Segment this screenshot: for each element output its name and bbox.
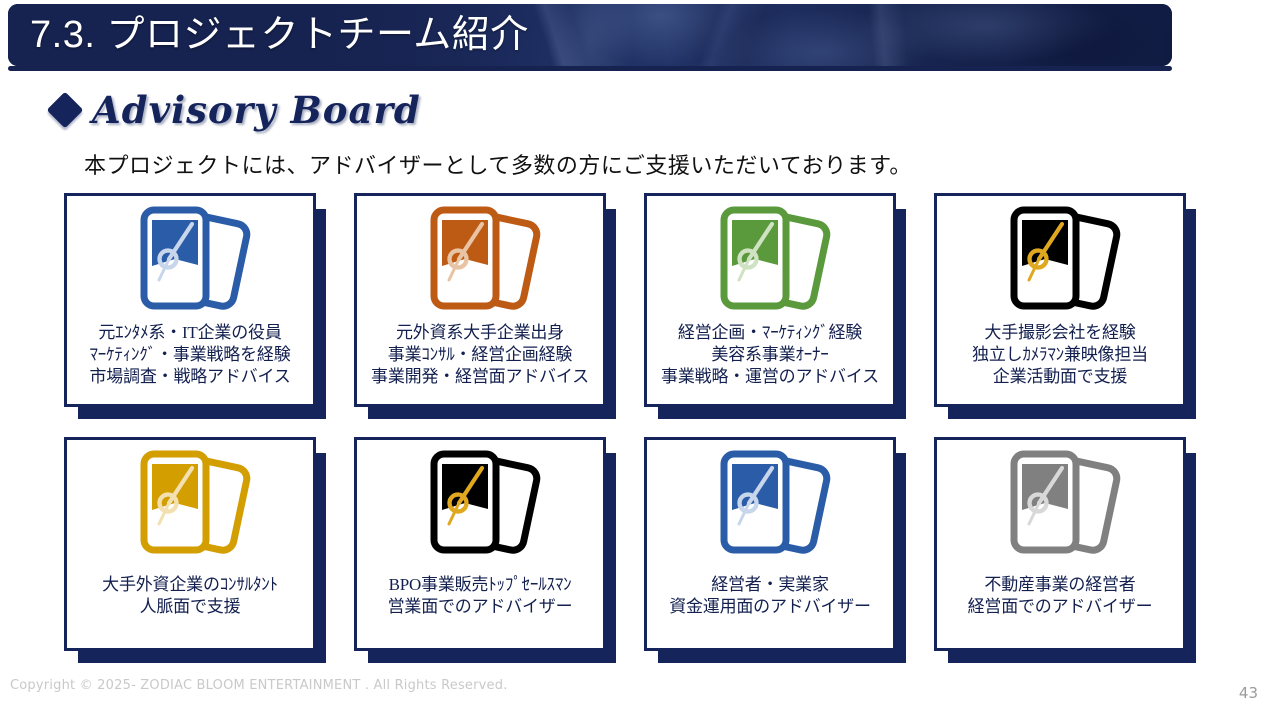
advisor-card: 大手撮影会社を経験 独立しｶﾒﾗﾏﾝ兼映像担当 企業活動面で支援 — [934, 193, 1196, 419]
advisor-card-grid: 元ｴﾝﾀﾒ系・IT企業の役員 ﾏｰｹﾃｨﾝｸﾞ・事業戦略を経験 市場調査・戦略ア… — [64, 193, 1224, 669]
page-title: 7.3. プロジェクトチーム紹介 — [30, 10, 529, 60]
advisor-card: 大手外資企業のｺﾝｻﾙﾀﾝﾄ 人脈面で支援 — [64, 437, 326, 663]
stacked-cards-icon — [708, 446, 832, 564]
advisor-card: 不動産事業の経営者 経営面でのアドバイザー — [934, 437, 1196, 663]
diamond-icon — [47, 92, 84, 129]
section-title: Advisory Board — [92, 88, 421, 132]
card-body: 元ｴﾝﾀﾒ系・IT企業の役員 ﾏｰｹﾃｨﾝｸﾞ・事業戦略を経験 市場調査・戦略ア… — [64, 193, 316, 407]
advisor-card: 経営者・実業家 資金運用面のアドバイザー — [644, 437, 906, 663]
card-body: 大手外資企業のｺﾝｻﾙﾀﾝﾄ 人脈面で支援 — [64, 437, 316, 651]
card-description: 経営企画・ﾏｰｹﾃｨﾝｸﾞ経験 美容系事業ｵｰﾅｰ 事業戦略・運営のアドバイス — [657, 322, 883, 388]
card-description: 元ｴﾝﾀﾒ系・IT企業の役員 ﾏｰｹﾃｨﾝｸﾞ・事業戦略を経験 市場調査・戦略ア… — [85, 322, 294, 388]
card-description: 経営者・実業家 資金運用面のアドバイザー — [665, 574, 875, 618]
card-description: 大手撮影会社を経験 独立しｶﾒﾗﾏﾝ兼映像担当 企業活動面で支援 — [968, 322, 1152, 388]
card-body: 経営企画・ﾏｰｹﾃｨﾝｸﾞ経験 美容系事業ｵｰﾅｰ 事業戦略・運営のアドバイス — [644, 193, 896, 407]
card-description: 不動産事業の経営者 経営面でのアドバイザー — [964, 574, 1157, 618]
stacked-cards-icon — [998, 202, 1122, 320]
copyright-text: Copyright © 2025- ZODIAC BLOOM ENTERTAIN… — [10, 678, 508, 693]
advisor-card: 経営企画・ﾏｰｹﾃｨﾝｸﾞ経験 美容系事業ｵｰﾅｰ 事業戦略・運営のアドバイス — [644, 193, 906, 419]
card-body: 元外資系大手企業出身 事業ｺﾝｻﾙ・経営企画経験 事業開発・経営面アドバイス — [354, 193, 606, 407]
header-banner: 7.3. プロジェクトチーム紹介 — [8, 4, 1172, 66]
page-number: 43 — [1239, 684, 1258, 702]
card-body: 大手撮影会社を経験 独立しｶﾒﾗﾏﾝ兼映像担当 企業活動面で支援 — [934, 193, 1186, 407]
card-description: 大手外資企業のｺﾝｻﾙﾀﾝﾄ 人脈面で支援 — [98, 574, 282, 618]
stacked-cards-icon — [708, 202, 832, 320]
lead-paragraph: 本プロジェクトには、アドバイザーとして多数の方にご支援いただいております。 — [84, 148, 912, 180]
card-description: 元外資系大手企業出身 事業ｺﾝｻﾙ・経営企画経験 事業開発・経営面アドバイス — [367, 322, 593, 388]
card-description: BPO事業販売ﾄｯﾌﾟｾｰﾙｽﾏﾝ 営業面でのアドバイザー — [384, 574, 577, 618]
header-underline — [8, 66, 1172, 71]
stacked-cards-icon — [128, 446, 252, 564]
card-body: 経営者・実業家 資金運用面のアドバイザー — [644, 437, 896, 651]
advisor-card: 元ｴﾝﾀﾒ系・IT企業の役員 ﾏｰｹﾃｨﾝｸﾞ・事業戦略を経験 市場調査・戦略ア… — [64, 193, 326, 419]
advisor-card: BPO事業販売ﾄｯﾌﾟｾｰﾙｽﾏﾝ 営業面でのアドバイザー — [354, 437, 616, 663]
advisor-card: 元外資系大手企業出身 事業ｺﾝｻﾙ・経営企画経験 事業開発・経営面アドバイス — [354, 193, 616, 419]
stacked-cards-icon — [998, 446, 1122, 564]
section-heading: Advisory Board — [52, 88, 421, 132]
stacked-cards-icon — [418, 202, 542, 320]
card-body: 不動産事業の経営者 経営面でのアドバイザー — [934, 437, 1186, 651]
card-body: BPO事業販売ﾄｯﾌﾟｾｰﾙｽﾏﾝ 営業面でのアドバイザー — [354, 437, 606, 651]
stacked-cards-icon — [128, 202, 252, 320]
stacked-cards-icon — [418, 446, 542, 564]
